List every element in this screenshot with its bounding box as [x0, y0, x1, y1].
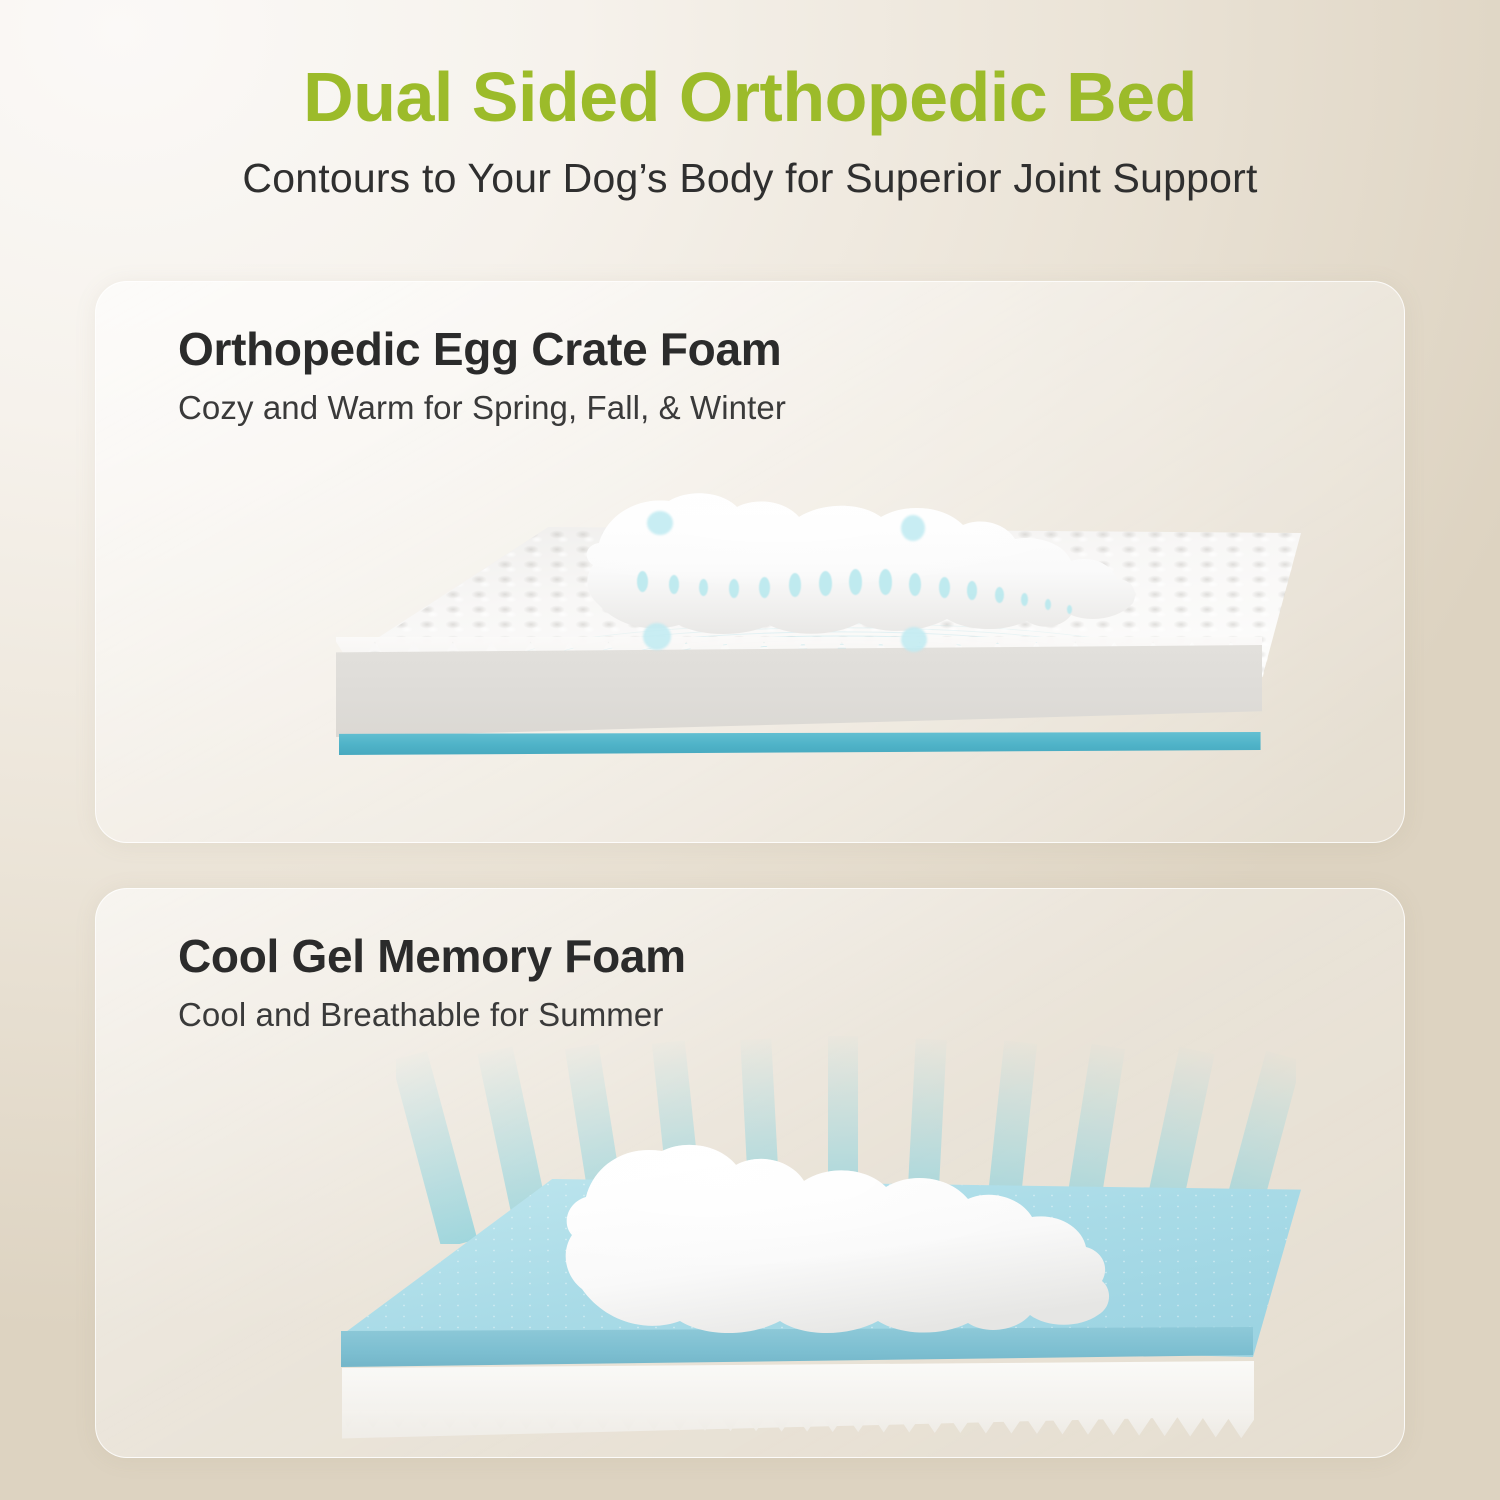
card-title: Orthopedic Egg Crate Foam [178, 324, 1404, 375]
card-subtitle: Cozy and Warm for Spring, Fall, & Winter [178, 389, 1404, 427]
support-base-strip [339, 732, 1261, 755]
page-title: Dual Sided Orthopedic Bed [0, 62, 1500, 133]
egg-crate-foam-illustration [96, 467, 1404, 843]
feature-card-gel-memory-foam: Cool Gel Memory Foam Cool and Breathable… [95, 888, 1405, 1458]
egg-crate-base-layer [342, 1361, 1254, 1449]
dog-silhouette-on-gel-foam [546, 1139, 1126, 1364]
card-header: Orthopedic Egg Crate Foam Cozy and Warm … [96, 282, 1404, 427]
dog-silhouette-sinking-into-foam [571, 487, 1146, 652]
page-subtitle: Contours to Your Dog’s Body for Superior… [0, 155, 1500, 202]
card-title: Cool Gel Memory Foam [178, 931, 1404, 982]
gel-memory-foam-illustration [96, 1029, 1404, 1458]
card-subtitle: Cool and Breathable for Summer [178, 996, 1404, 1034]
page-header: Dual Sided Orthopedic Bed Contours to Yo… [0, 0, 1500, 202]
feature-card-egg-crate-foam: Orthopedic Egg Crate Foam Cozy and Warm … [95, 281, 1405, 843]
foam-front-face [336, 645, 1262, 737]
card-header: Cool Gel Memory Foam Cool and Breathable… [96, 889, 1404, 1034]
